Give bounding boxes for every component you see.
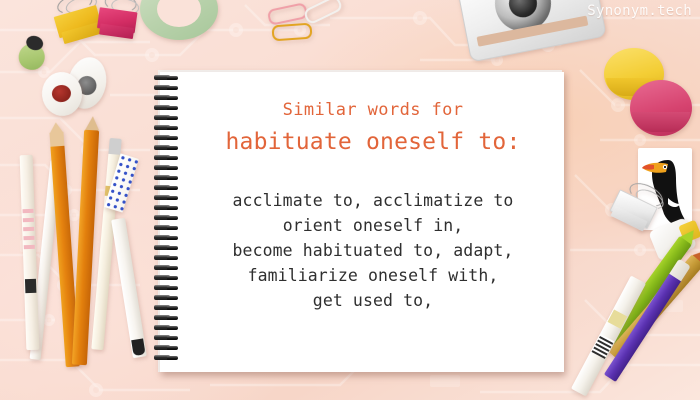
synonym-line: become habituated to, adapt, bbox=[233, 238, 514, 263]
spiral-notebook: Similar words for habituate oneself to: … bbox=[152, 68, 564, 374]
synonym-line: orient oneself in, bbox=[233, 213, 514, 238]
similar-words-label: Similar words for bbox=[283, 100, 464, 120]
binder-clip-pink bbox=[95, 0, 142, 45]
macaron-pink bbox=[630, 80, 692, 136]
synonym-line: familiarize oneself with, bbox=[233, 263, 514, 288]
notebook-text-block: Similar words for habituate oneself to: … bbox=[182, 72, 564, 372]
synonym-line: acclimate to, acclimatize to bbox=[233, 188, 514, 213]
washi-tape-roll bbox=[140, 0, 218, 40]
spiral-binding bbox=[152, 72, 182, 372]
desk-scene: Similar words for habituate oneself to: … bbox=[0, 0, 700, 400]
synonym-list: acclimate to, acclimatize to orient ones… bbox=[233, 188, 514, 313]
site-watermark: Synonym.tech bbox=[587, 3, 692, 19]
eraser-white bbox=[40, 70, 84, 118]
headword-title: habituate oneself to: bbox=[226, 129, 521, 155]
synonym-line: get used to, bbox=[233, 288, 514, 313]
paperclip-orange bbox=[271, 23, 312, 42]
